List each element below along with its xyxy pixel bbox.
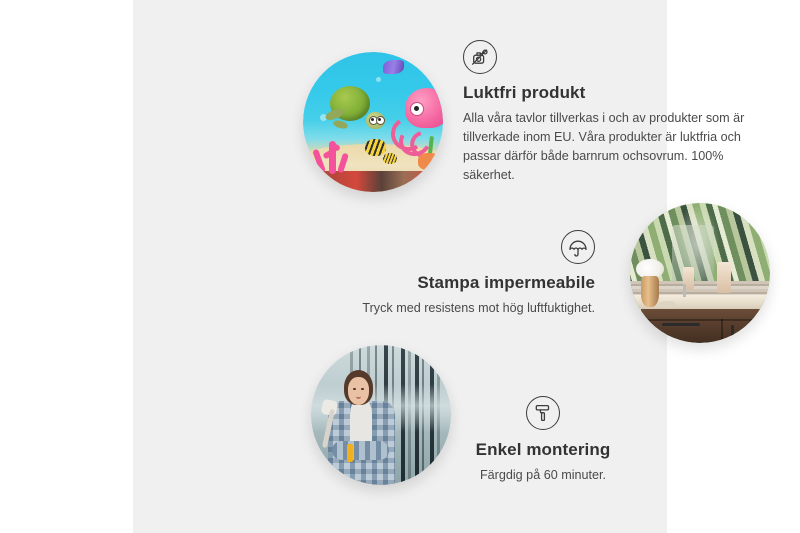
feature-description: Alla våra tavlor tillverkas i och av pro… bbox=[463, 109, 763, 186]
vanity-door-line bbox=[721, 319, 723, 343]
photo-woman-paint-roller-forest bbox=[311, 345, 451, 485]
turtle-eye bbox=[376, 116, 385, 125]
no-perfume-icon bbox=[463, 40, 497, 74]
fish-yellow-large bbox=[365, 139, 386, 156]
vanity-drawer-handle bbox=[662, 323, 701, 326]
coral-illustration bbox=[309, 132, 357, 174]
umbrella-icon bbox=[561, 230, 595, 264]
octopus-illustration bbox=[390, 88, 443, 152]
bathroom-vanity bbox=[641, 309, 770, 343]
feature-icon-row bbox=[463, 40, 763, 74]
feature-description: Färgdig på 60 minuter. bbox=[433, 466, 653, 485]
fish-yellow-small bbox=[383, 153, 397, 164]
woman-eye bbox=[361, 388, 364, 390]
vase bbox=[641, 276, 659, 307]
bubble-icon bbox=[376, 77, 381, 82]
feature-title: Stampa impermeabile bbox=[333, 273, 595, 293]
paint-roller-icon bbox=[526, 396, 560, 430]
feature-icon-row bbox=[433, 396, 653, 430]
woman-eye bbox=[353, 388, 356, 390]
vanity-door-handle bbox=[731, 325, 734, 343]
feature-easy-mounting: Enkel montering Färgdig på 60 minuter. bbox=[433, 396, 653, 485]
sea-foreground-strip bbox=[303, 171, 443, 192]
woman-illustration bbox=[325, 370, 398, 485]
feature-waterproof: Stampa impermeabile Tryck med resistens … bbox=[333, 230, 595, 318]
woman-arms bbox=[332, 441, 389, 459]
octopus-eye bbox=[410, 102, 424, 116]
photo-underwater-mural bbox=[303, 52, 443, 192]
turtle-illustration bbox=[325, 86, 381, 134]
feature-title: Luktfri produkt bbox=[463, 83, 763, 103]
content-panel: Luktfri produkt Alla våra tavlor tillver… bbox=[133, 0, 667, 533]
infographic-canvas: Luktfri produkt Alla våra tavlor tillver… bbox=[0, 0, 800, 533]
woman-face bbox=[348, 377, 370, 405]
woman-smile bbox=[356, 394, 361, 399]
faucet bbox=[683, 284, 686, 297]
bathroom-bottle bbox=[717, 262, 731, 293]
feature-icon-row bbox=[333, 230, 595, 264]
photo-underwater-inner bbox=[303, 52, 443, 192]
photo-bathroom-leaf-wallpaper bbox=[630, 203, 770, 343]
photo-bathroom-inner bbox=[630, 203, 770, 343]
hand-tool bbox=[347, 444, 354, 462]
starfish bbox=[418, 153, 440, 170]
feature-odourless: Luktfri produkt Alla våra tavlor tillver… bbox=[463, 40, 763, 186]
feature-title: Enkel montering bbox=[433, 440, 653, 460]
vanity-drawer-line bbox=[641, 319, 770, 321]
photo-forest-inner bbox=[311, 345, 451, 485]
soap-dish bbox=[658, 301, 676, 308]
feature-description: Tryck med resistens mot hög luftfuktighe… bbox=[333, 299, 595, 318]
